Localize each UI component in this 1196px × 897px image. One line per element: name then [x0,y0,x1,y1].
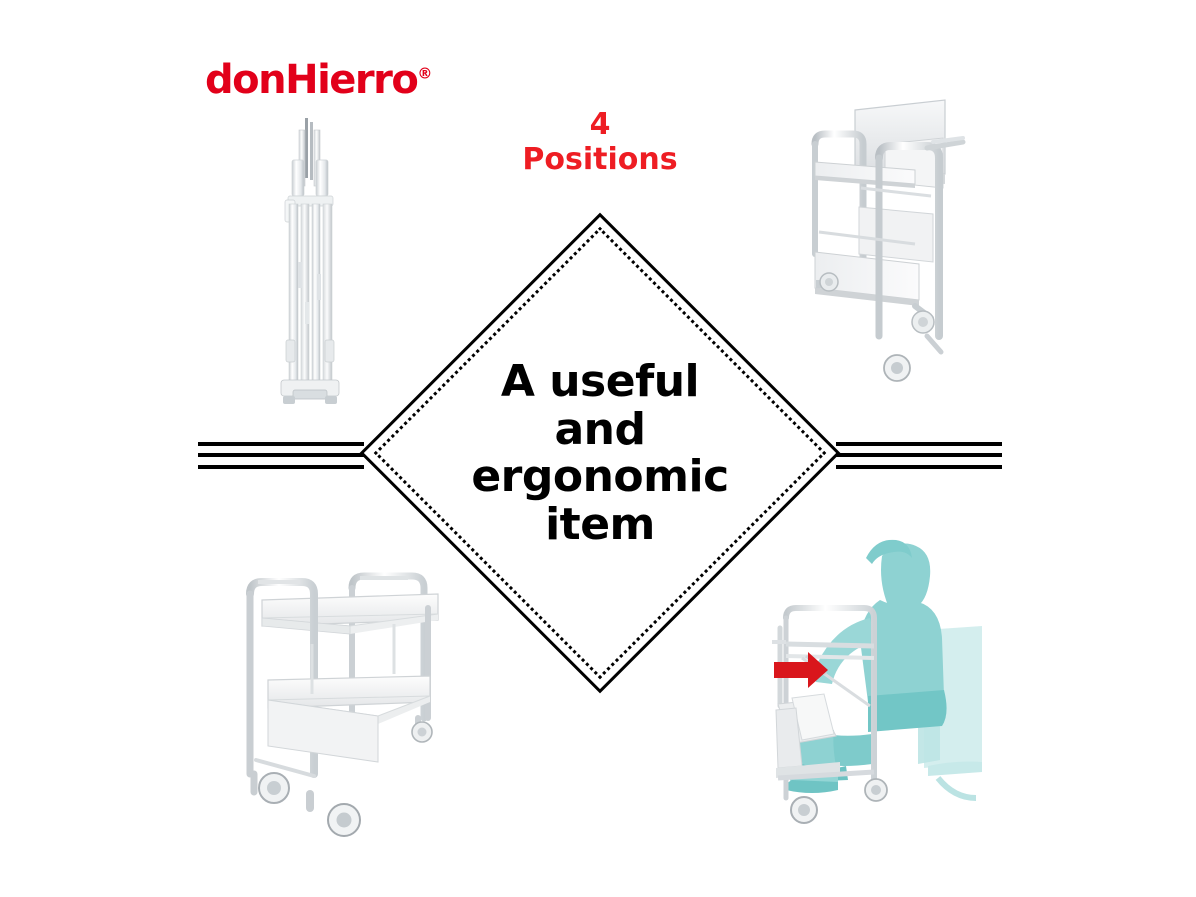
diamond-text-line-3: ergonomic [435,453,765,501]
right-rule-group [836,442,1002,472]
right-rule-1 [836,442,1002,446]
semifolded-trolley-illustration [793,92,973,392]
product-photo-seated-operator [762,522,992,842]
left-rule-group [198,442,364,472]
brand-logo-text: donHierro [205,57,417,103]
seated-operator-illustration [762,522,992,842]
registered-trademark-icon: ® [417,65,432,83]
brand-logo: donHierro® [205,60,432,100]
left-rule-2 [198,453,364,457]
left-rule-3 [198,465,364,469]
folded-trolley-illustration [255,112,365,412]
diamond-text-block: A useful and ergonomic item [435,358,765,548]
product-photo-open-trolley [232,552,452,852]
positions-heading-line-2: Positions [450,143,750,178]
right-rule-2 [836,453,1002,457]
positions-heading: 4 Positions [450,108,750,177]
slide-canvas: donHierro® 4 Positions A useful and ergo… [0,0,1196,897]
product-photo-folded-trolley [255,112,365,412]
left-rule-1 [198,442,364,446]
diamond-text-line-4: item [435,501,765,549]
right-rule-3 [836,465,1002,469]
open-trolley-illustration [232,552,452,852]
diamond-text-line-2: and [435,405,765,453]
diamond-text-line-1: A useful [435,358,765,406]
positions-heading-line-1: 4 [450,108,750,143]
product-photo-semifolded-trolley [793,92,973,392]
